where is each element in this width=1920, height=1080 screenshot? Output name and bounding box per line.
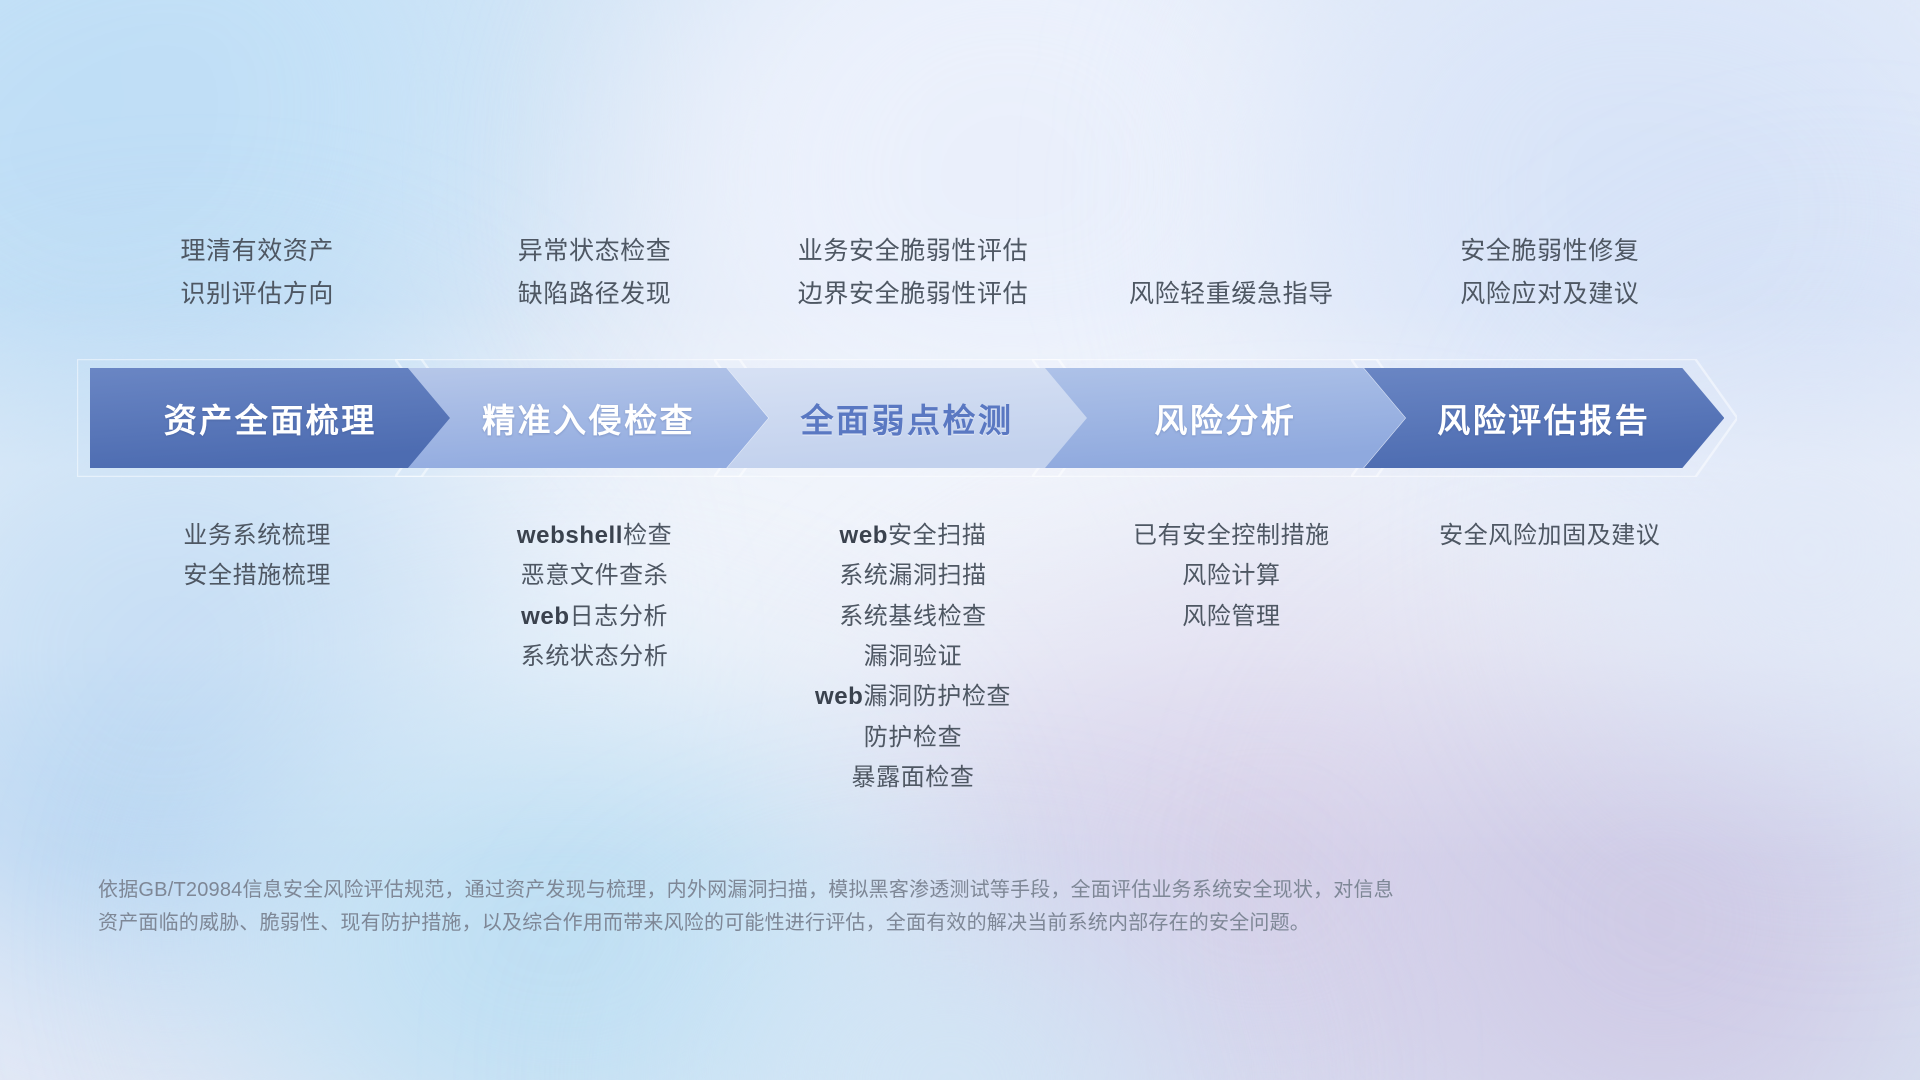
annotation-text: 系统漏洞扫描: [839, 562, 987, 589]
process-step-asset-inventory[interactable]: 资产全面梳理: [90, 368, 450, 468]
annotation-text: 业务系统梳理: [183, 522, 331, 549]
process-step-label: 风险分析: [1154, 394, 1296, 442]
annotation-text: 系统状态分析: [521, 643, 669, 670]
annotation-text: 风险管理: [1182, 603, 1280, 630]
annotation-text: 恶意文件查杀: [521, 562, 669, 589]
chevron-band: 资产全面梳理 精准入侵检查: [0, 368, 1920, 468]
annotation-keyword: web: [840, 522, 888, 549]
bottom-annotations-assessment-report: 安全风险加固及建议: [1290, 516, 1810, 556]
annotation-text: 安全措施梳理: [183, 562, 331, 589]
annotation-item: 暴露面检查: [653, 758, 1173, 798]
process-step-weakness-detection[interactable]: 全面弱点检测: [727, 368, 1087, 468]
annotation-keyword: web: [815, 683, 863, 710]
process-diagram: 理清有效资产识别评估方向异常状态检查缺陷路径发现业务安全脆弱性评估边界安全脆弱性…: [0, 0, 1920, 1080]
process-step-assessment-report[interactable]: 风险评估报告: [1364, 368, 1724, 468]
footer-line-2: 资产面临的威胁、脆弱性、现有防护措施，以及综合作用而带来风险的可能性进行评估，全…: [98, 907, 1618, 940]
top-annotations-assessment-report: 安全脆弱性修复风险应对及建议: [1290, 230, 1810, 316]
process-step-label: 风险评估报告: [1437, 394, 1650, 442]
footer-line-1: 依据GB/T20984信息安全风险评估规范，通过资产发现与梳理，内外网漏洞扫描，…: [98, 874, 1618, 907]
process-step-intrusion-check[interactable]: 精准入侵检查: [408, 368, 768, 468]
annotation-item: web漏洞防护检查: [653, 677, 1173, 717]
slide-canvas: 理清有效资产识别评估方向异常状态检查缺陷路径发现业务安全脆弱性评估边界安全脆弱性…: [0, 0, 1920, 1080]
annotation-text: 系统基线检查: [839, 603, 987, 630]
annotation-text: 暴露面检查: [852, 764, 975, 791]
footer-description: 依据GB/T20984信息安全风险评估规范，通过资产发现与梳理，内外网漏洞扫描，…: [98, 874, 1618, 940]
annotation-item: 漏洞验证: [653, 637, 1173, 677]
annotation-item: 风险计算: [971, 556, 1491, 596]
process-step-label: 资产全面梳理: [164, 394, 377, 442]
annotation-item: 防护检查: [653, 718, 1173, 758]
annotation-item: 风险管理: [971, 597, 1491, 637]
annotation-keyword: webshell: [517, 522, 623, 549]
annotation-keyword: web: [521, 603, 569, 630]
process-step-label: 精准入侵检查: [482, 394, 695, 442]
annotation-text: 漏洞防护检查: [863, 683, 1011, 710]
annotation-item: 安全风险加固及建议: [1290, 516, 1810, 556]
annotation-item: 风险应对及建议: [1290, 273, 1810, 316]
annotation-text: 安全风险加固及建议: [1439, 522, 1660, 549]
process-step-risk-analysis[interactable]: 风险分析: [1045, 368, 1405, 468]
annotation-text: 防护检查: [864, 724, 962, 751]
process-step-label: 全面弱点检测: [800, 394, 1013, 442]
annotation-item: 业务安全脆弱性评估: [653, 230, 1173, 273]
annotation-text: 风险计算: [1182, 562, 1280, 589]
annotation-text: 漏洞验证: [864, 643, 962, 670]
annotation-item: 安全脆弱性修复: [1290, 230, 1810, 273]
